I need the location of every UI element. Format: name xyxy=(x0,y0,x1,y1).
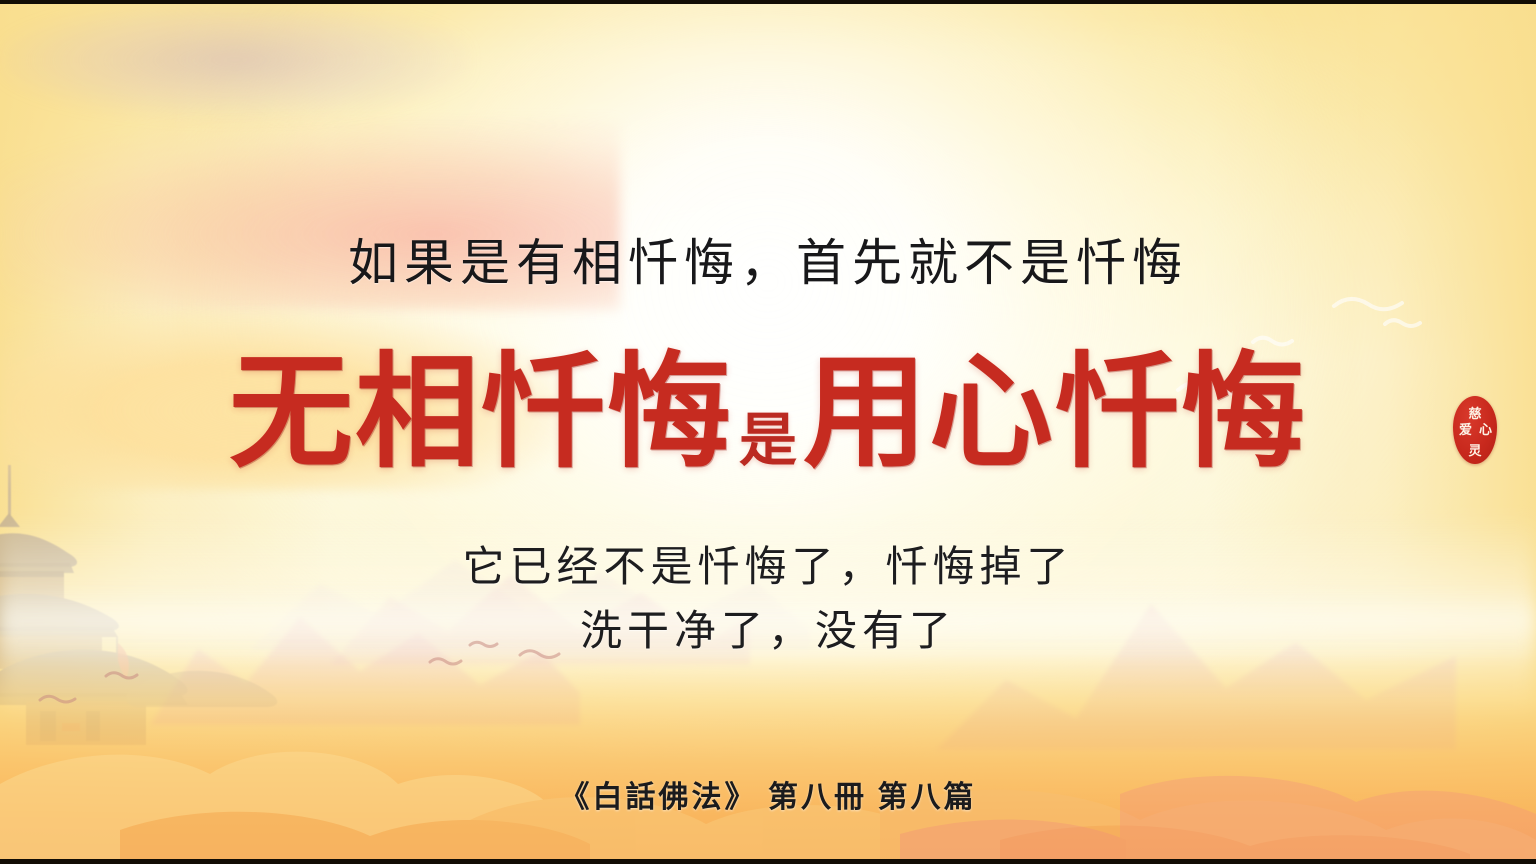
subtitle-line-1: 它已经不是忏悔了，忏悔掉了 xyxy=(0,536,1536,600)
lead-quote-line: 如果是有相忏悔，首先就不是忏悔 xyxy=(0,238,1536,288)
top-letterbox-bar xyxy=(0,0,1536,4)
subtitle-line-2: 洗干净了，没有了 xyxy=(0,600,1536,664)
artist-seal-stamp: 慈 爱 心 灵 xyxy=(1453,396,1497,464)
bottom-letterbox-bar xyxy=(0,859,1536,864)
headline-part-left: 无相忏悔 xyxy=(229,352,733,476)
seal-char-top: 慈 xyxy=(1468,407,1481,420)
main-headline: 无相忏悔 是 用心忏悔 xyxy=(0,352,1536,476)
poster-canvas: 如果是有相忏悔，首先就不是忏悔 无相忏悔 是 用心忏悔 它已经不是忏悔了，忏悔掉… xyxy=(0,0,1536,864)
seal-char-right: 心 xyxy=(1479,423,1492,436)
headline-connector: 是 xyxy=(739,412,797,470)
poster-text-layer: 如果是有相忏悔，首先就不是忏悔 无相忏悔 是 用心忏悔 它已经不是忏悔了，忏悔掉… xyxy=(0,0,1536,864)
seal-characters: 慈 爱 心 灵 xyxy=(1453,396,1497,464)
subtitle-block: 它已经不是忏悔了，忏悔掉了 洗干净了，没有了 xyxy=(0,536,1536,664)
source-attribution: 《白話佛法》 第八冊 第八篇 xyxy=(0,780,1536,816)
seal-char-left: 爱 xyxy=(1459,423,1472,436)
seal-char-bottom: 灵 xyxy=(1468,444,1481,457)
headline-part-right: 用心忏悔 xyxy=(803,352,1307,476)
